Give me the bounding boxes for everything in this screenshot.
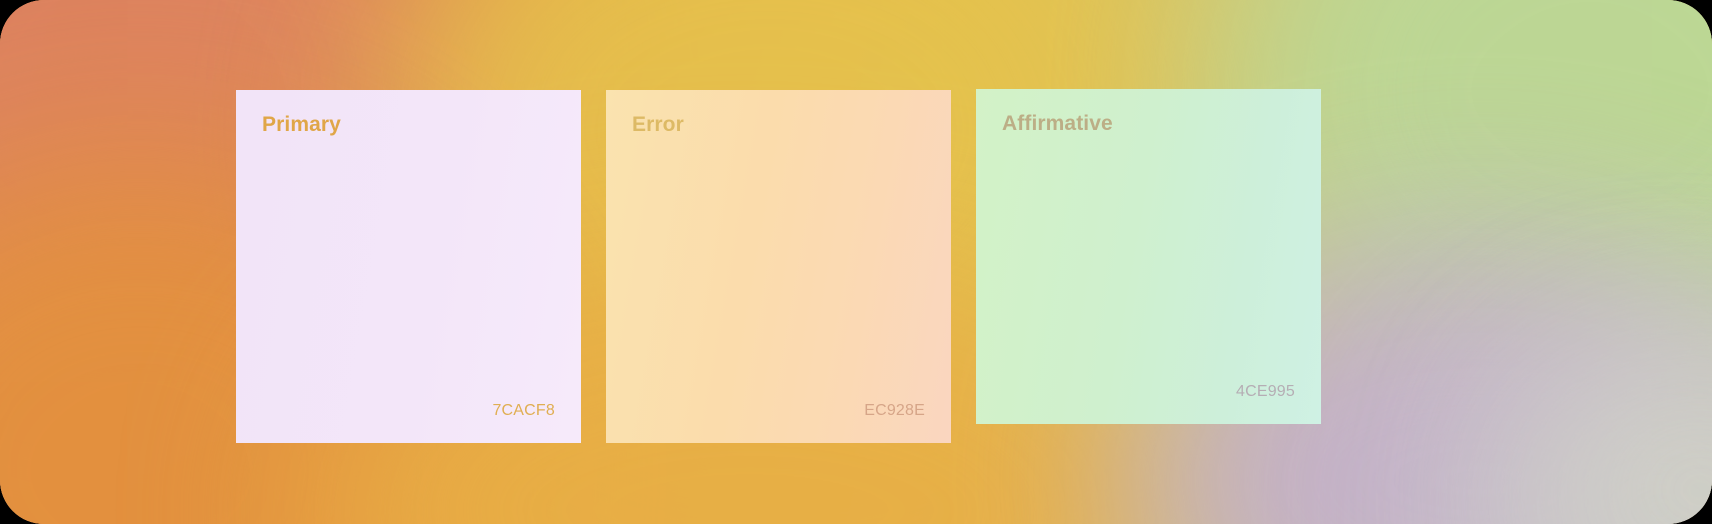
color-swatch-card-affirmative[interactable]: Affirmative 4CE995 [976,89,1321,424]
gradient-blob-sage-right [1530,360,1712,524]
color-swatch-card-error[interactable]: Error EC928E [606,90,951,443]
color-palette-canvas: Primary 7CACF8 Error EC928E Affirmative … [0,0,1712,524]
swatch-title: Primary [262,114,555,135]
color-swatch-card-primary[interactable]: Primary 7CACF8 [236,90,581,443]
swatch-hex-value: 7CACF8 [262,403,555,419]
swatch-hex-value: 4CE995 [1002,384,1295,400]
gradient-blob-grey-bottom-right [1430,330,1712,524]
swatch-title: Affirmative [1002,113,1295,134]
swatch-title: Error [632,114,925,135]
swatch-hex-value: EC928E [632,403,925,419]
